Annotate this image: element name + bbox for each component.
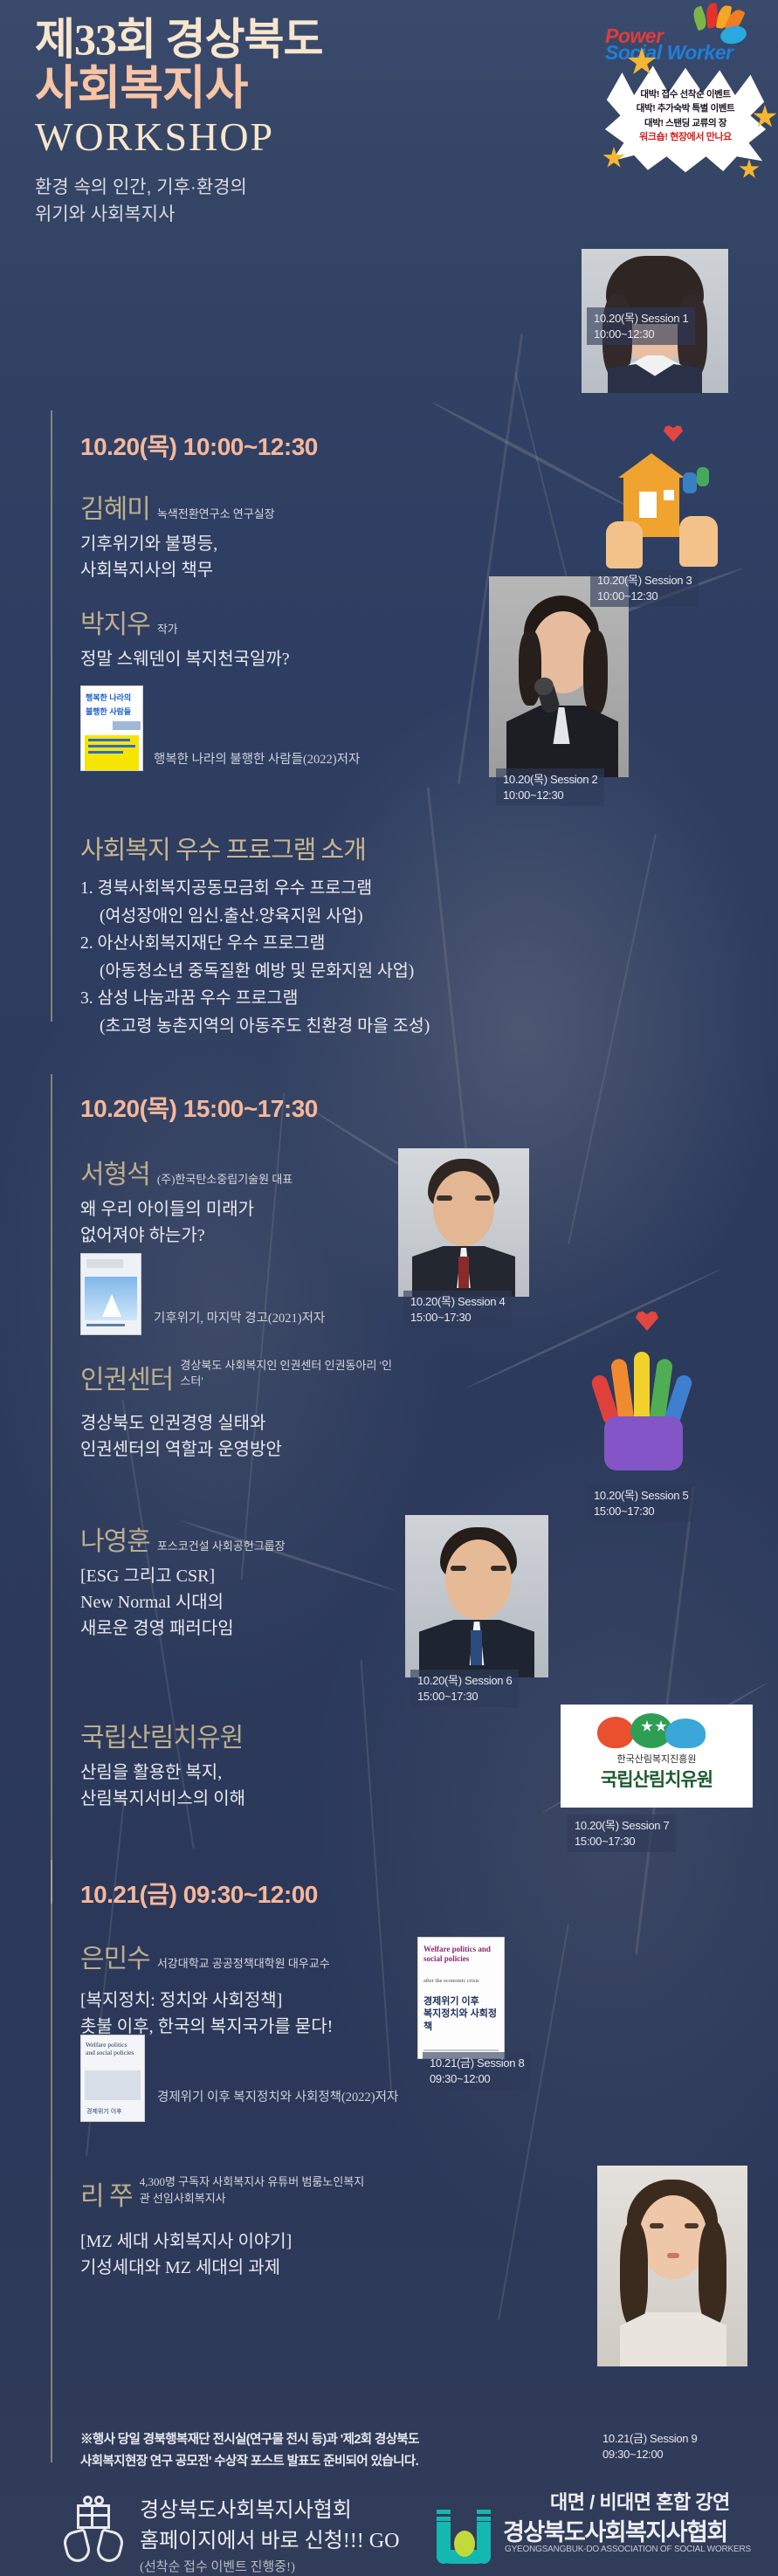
page-title-line1: 제33회 경상북도: [35, 16, 524, 63]
speaker-photo-na: [405, 1515, 548, 1677]
session-badge-6-line2: 15:00~17:30: [417, 1689, 512, 1705]
speaker-block-na: 나영훈 포스코건설 사회공헌그룹장 [ESG 그리고 CSR] New Norm…: [80, 1519, 412, 1642]
session-time-header-2: 10.20(목) 15:00~17:30: [80, 1090, 318, 1125]
poster-subtitle: 환경 속의 인간, 기후·환경의 위기와 사회복지사: [35, 175, 524, 228]
session-badge-1-line1: 10.20(목) Session 1: [594, 311, 688, 327]
page-title-line3: WORKSHOP: [35, 114, 524, 161]
session-badge-8-line2: 09:30~12:00: [430, 2071, 524, 2087]
topic-line-2: 없어져야 하는가?: [80, 1223, 447, 1249]
topic-line-2: 인권센터의 역할과 운영방안: [80, 1436, 456, 1463]
speaker-topic: 정말 스웨덴이 복지천국일까?: [80, 646, 499, 672]
topic-line-2: 사회복지사의 책무: [80, 557, 465, 583]
book2-kr-line1: 경제위기 이후: [86, 2109, 122, 2115]
session-badge-4-line2: 15:00~17:30: [410, 1310, 505, 1326]
session-badge-5-line1: 10.20(목) Session 5: [594, 1488, 688, 1504]
speaker-block-forest: 국립산림치유원 산림을 활용한 복지, 산림복지서비스의 이해: [80, 1716, 447, 1812]
event-burst-callout: 대박! 접수 선착순 이벤트 대박! 추가숙박 특별 이벤트 대박! 스탠딩 교…: [600, 61, 771, 175]
book-cover-happy-country: 행복한 나라의 불행한 사람들: [80, 685, 143, 771]
session-time-header-3: 10.21(금) 09:30~12:00: [80, 1876, 318, 1911]
speaker-header: 박지우 작가: [80, 603, 499, 641]
association-subtitle: GYEONGSANGBUK-DO ASSOCIATION OF SOCIAL W…: [505, 2545, 751, 2554]
section-rule-3: [51, 1860, 52, 2462]
session-badge-1-line2: 10:00~12:30: [594, 327, 688, 342]
session-badge-5: 10.20(목) Session 5 15:00~17:30: [587, 1484, 695, 1522]
speaker-header: 인권센터 경상북도 사회복지인 인권센터 인권동아리 '인스터': [80, 1358, 456, 1396]
session-badge-3: 10.20(목) Session 3 10:00~12:30: [590, 569, 699, 607]
speaker-name: 김혜미: [80, 487, 150, 526]
session-badge-3-line2: 10:00~12:30: [597, 589, 692, 604]
book2r-line3: after the economic crisis: [423, 1978, 479, 1984]
speaker-block-park: 박지우 작가 정말 스웨덴이 복지천국일까?: [80, 603, 499, 672]
session-badge-9-line1: 10.21(금) Session 9: [602, 2431, 697, 2447]
burst-line-3: 대박! 스탠딩 교류의 장: [600, 116, 771, 130]
forest-logo-line2: 국립산림치유원: [568, 1766, 746, 1792]
speaker-name: 국립산림치유원: [80, 1716, 243, 1754]
speaker-name: 나영훈: [80, 1519, 150, 1558]
speaker-header: 김혜미 녹색전환연구소 연구실장: [80, 487, 465, 526]
book-cover-welfare-politics: Welfare politics and social policies 경제위…: [80, 2035, 145, 2122]
speaker-photo-seo: [398, 1148, 529, 1297]
session-time-header-1: 10.20(목) 10:00~12:30: [80, 428, 318, 463]
session-badge-1: 10.20(목) Session 1 10:00~12:30: [587, 307, 695, 345]
burst-line-2: 대박! 추가숙박 특별 이벤트: [600, 101, 771, 115]
speaker-role: 작가: [157, 620, 178, 637]
topic-line-1: 기후위기와 불평등,: [80, 531, 465, 557]
burst-line-1: 대박! 접수 선착순 이벤트: [600, 87, 771, 101]
illustration-rainbow-hand: [592, 1345, 697, 1476]
topic-line-1: [MZ 세대 사회복지사 이야기]: [80, 2228, 456, 2255]
topic-line-2: New Normal 시대의: [80, 1589, 412, 1615]
session-badge-9: 10.21(금) Session 9 09:30~12:00: [602, 2431, 697, 2462]
speaker-topic: 산림을 활용한 복지, 산림복지서비스의 이해: [80, 1760, 447, 1812]
session-badge-5-line2: 15:00~17:30: [594, 1504, 688, 1519]
illustration-house-hands: [590, 441, 739, 572]
poster-subtitle-line2: 위기와 사회복지사: [35, 202, 524, 228]
session-badge-2-line2: 10:00~12:30: [503, 788, 597, 803]
footer-note-line2: 사회복지현장 연구 공모전' 수상작 포스트 발표도 준비되어 있습니다.: [80, 2451, 569, 2473]
program-item-2-sub: (아동청소년 중독질환 예방 및 문화지원 사업): [80, 958, 569, 986]
speaker-topic: 기후위기와 불평등, 사회복지사의 책무: [80, 531, 465, 583]
speaker-role: 경상북도 사회복지인 인권센터 인권동아리 '인스터': [180, 1358, 398, 1389]
topic-line-1: 정말 스웨덴이 복지천국일까?: [80, 646, 499, 672]
session-badge-7: 10.20(목) Session 7 15:00~17:30: [568, 1815, 676, 1852]
footer-note: ※행사 당일 경북행복재단 전시실(연구물 전시 등)과 '제2회 경상북도 사…: [80, 2429, 569, 2474]
session-badge-8-line1: 10.21(금) Session 8: [430, 2056, 524, 2071]
book-caption-3: 경제위기 이후 복지정치와 사회정책(2022)저자: [157, 2089, 419, 2108]
program-list: 1. 경북사회복지공동모금회 우수 프로그램 (여성장애인 임신.출산.양육지원…: [80, 875, 569, 1040]
logo-national-forest-therapy: 한국산림복지진흥원 국립산림치유원: [561, 1705, 753, 1808]
topic-line-2: 산림복지서비스의 이해: [80, 1786, 447, 1812]
session-badge-2: 10.20(목) Session 2 10:00~12:30: [496, 768, 604, 806]
page-title-line2: 사회복지사: [35, 63, 524, 114]
speaker-topic: 왜 우리 아이들의 미래가 없어져야 하는가?: [80, 1196, 447, 1249]
speaker-header: 나영훈 포스코건설 사회공헌그룹장: [80, 1519, 412, 1558]
speaker-topic: 경상북도 인권경영 실태와 인권센터의 역할과 운영방안: [80, 1410, 456, 1463]
topic-line-2: 기성세대와 MZ 세대의 과제: [80, 2255, 456, 2281]
book2r-line1: Welfare politics: [423, 1945, 476, 1953]
speaker-photo-lee: [597, 2166, 747, 2366]
topic-line-1: 경상북도 인권경영 실태와: [80, 1410, 456, 1436]
session-badge-8: 10.21(금) Session 8 09:30~12:00: [423, 2052, 531, 2090]
book2r-kr1: 경제위기 이후: [423, 1996, 479, 2007]
session-badge-4: 10.20(목) Session 4 15:00~17:30: [403, 1291, 512, 1328]
book-cover-climate-warning: [80, 1253, 141, 1335]
speaker-header: 국립산림치유원: [80, 1716, 447, 1754]
speaker-topic: [MZ 세대 사회복지사 이야기] 기성세대와 MZ 세대의 과제: [80, 2228, 456, 2281]
speaker-role: 서강대학교 공공정책대학원 대우교수: [157, 1954, 330, 1971]
speaker-block-humanrights: 인권센터 경상북도 사회복지인 인권센터 인권동아리 '인스터' 경상북도 인권…: [80, 1358, 456, 1463]
speaker-block-kim: 김혜미 녹색전환연구소 연구실장 기후위기와 불평등, 사회복지사의 책무: [80, 487, 465, 583]
program-list-block: 사회복지 우수 프로그램 소개 1. 경북사회복지공동모금회 우수 프로그램 (…: [80, 830, 569, 1040]
book2-title-line1: Welfare politics: [86, 2041, 127, 2049]
session-badge-9-line2: 09:30~12:00: [602, 2447, 697, 2462]
burst-highlight: 워크숍! 현장에서 만나요: [600, 130, 771, 145]
program-item-2: 2. 아산사회복지재단 우수 프로그램: [80, 930, 569, 958]
book2r-kr2: 복지정치와 사회정책: [423, 2008, 497, 2031]
session-badge-2-line1: 10.20(목) Session 2: [503, 772, 597, 788]
program-item-1-sub: (여성장애인 임신.출산.양육지원 사업): [80, 903, 569, 931]
speaker-name: 인권센터: [80, 1358, 173, 1396]
topic-line-3: 새로운 경영 패러다임: [80, 1615, 412, 1642]
speaker-role: 녹색전환연구소 연구실장: [157, 505, 275, 521]
session-badge-6: 10.20(목) Session 6 15:00~17:30: [410, 1670, 519, 1707]
program-item-3-sub: (초고령 농촌지역의 아동주도 친환경 마을 조성): [80, 1013, 569, 1041]
speaker-name: 박지우: [80, 603, 150, 641]
gift-hands-icon: [61, 2496, 126, 2564]
speaker-header: 리 쭈 4,300명 구독자 사회복지사 유튜버 범룸노인복지관 선임사회복지사: [80, 2174, 456, 2213]
poster-subtitle-line1: 환경 속의 인간, 기후·환경의: [35, 175, 524, 201]
speaker-name: 은민수: [80, 1937, 150, 1975]
book-caption-1: 행복한 나라의 불행한 사람들(2022)저자: [154, 751, 503, 769]
program-section-title: 사회복지 우수 프로그램 소개: [80, 830, 569, 866]
speaker-block-seo: 서형석 (주)한국탄소중립기술원 대표 왜 우리 아이들의 미래가 없어져야 하…: [80, 1153, 447, 1249]
topic-line-1: 산림을 활용한 복지,: [80, 1760, 447, 1786]
section-rule-1: [51, 410, 52, 1022]
topic-line-1: 왜 우리 아이들의 미래가: [80, 1196, 447, 1223]
speaker-topic: [ESG 그리고 CSR] New Normal 시대의 새로운 경영 패러다임: [80, 1563, 412, 1642]
forest-logo-line1: 한국산림복지진흥원: [568, 1752, 746, 1766]
program-item-3: 3. 삼성 나눔과꿈 우수 프로그램: [80, 985, 569, 1013]
book-cover-welfare-politics-kr: Welfare politics and social policies aft…: [417, 1937, 505, 2059]
session-badge-6-line1: 10.20(목) Session 6: [417, 1673, 512, 1689]
book2-title-line2: and social policies: [86, 2049, 134, 2056]
speaker-block-lee: 리 쭈 4,300명 구독자 사회복지사 유튜버 범룸노인복지관 선임사회복지사…: [80, 2174, 456, 2281]
speaker-role: (주)한국탄소중립기술원 대표: [157, 1170, 293, 1187]
association-logo: 경상북도사회복지사협회 GYEONGSANGBUK-DO ASSOCIATION…: [437, 2508, 772, 2569]
section-rule-2: [51, 1074, 52, 1904]
session-badge-7-line1: 10.20(목) Session 7: [575, 1818, 669, 1834]
speaker-role: 4,300명 구독자 사회복지사 유튜버 범룸노인복지관 선임사회복지사: [140, 2174, 367, 2208]
footer-note-line1: ※행사 당일 경북행복재단 전시실(연구물 전시 등)과 '제2회 경상북도: [80, 2429, 569, 2451]
program-item-1: 1. 경북사회복지공동모금회 우수 프로그램: [80, 875, 569, 903]
speaker-name: 서형석: [80, 1153, 150, 1191]
speaker-name: 리 쭈: [80, 2174, 133, 2213]
poster-title-block: 제33회 경상북도 사회복지사 WORKSHOP 환경 속의 인간, 기후·환경…: [35, 16, 524, 228]
speaker-role: 포스코건설 사회공헌그룹장: [157, 1537, 286, 1553]
speaker-header: 서형석 (주)한국탄소중립기술원 대표: [80, 1153, 447, 1191]
session-badge-4-line1: 10.20(목) Session 4: [410, 1294, 505, 1310]
association-name: 경상북도사회복지사협회: [503, 2513, 727, 2547]
topic-line-1: [ESG 그리고 CSR]: [80, 1563, 412, 1589]
session-badge-3-line1: 10.20(목) Session 3: [597, 573, 692, 589]
session-badge-7-line2: 15:00~17:30: [575, 1834, 669, 1849]
